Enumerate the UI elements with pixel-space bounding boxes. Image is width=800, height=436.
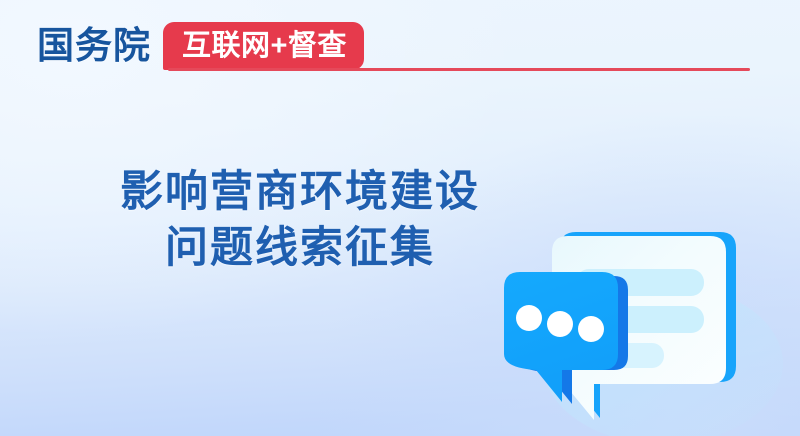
program-badge-label: 互联网+督查 [182, 32, 347, 61]
header-divider-rule [168, 68, 750, 71]
headline-line-1: 影响营商环境建设 [0, 164, 600, 220]
banner-header: 国务院 互联网+督查 [0, 0, 800, 96]
program-badge: 互联网+督查 [163, 22, 364, 70]
gov-title: 国务院 [37, 24, 151, 68]
dots-bubble-dot-2 [547, 311, 573, 337]
dots-bubble-dot-1 [516, 305, 542, 331]
banner-root: 国务院 互联网+督查 影响营商环境建设 问题线索征集 [0, 0, 800, 436]
chat-bubbles-illustration [488, 214, 788, 436]
dots-bubble-dot-3 [578, 316, 604, 342]
